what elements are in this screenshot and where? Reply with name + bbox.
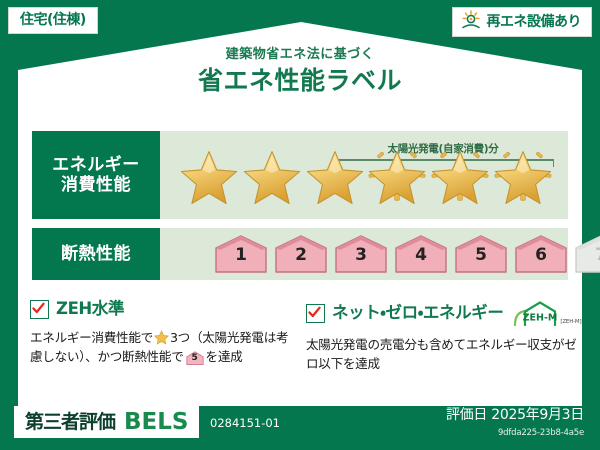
- inline-star-icon: [154, 330, 169, 345]
- net-zero-title: ネット・ゼロ・エネルギー: [332, 305, 503, 322]
- third-party-label: 第三者評価: [25, 413, 115, 432]
- bels-evaluation-badge: 第三者評価 BELS: [14, 406, 199, 438]
- zeh-desc-part1: エネルギー消費性能で: [30, 330, 153, 345]
- title-subtitle: 建築物省エネ法に基づく: [0, 48, 600, 61]
- zeh-desc-part3: を達成: [206, 349, 243, 364]
- svg-text:ZEH-M: ZEH-M: [523, 313, 558, 324]
- bels-logo-text: BELS: [124, 411, 188, 434]
- insulation-level-5: 5: [454, 234, 508, 274]
- zeh-description: エネルギー消費性能で 3つ（太陽光発電は考慮しない）、かつ断熱性能で 5 を達成: [30, 328, 292, 366]
- renewable-badge-label: 再エネ設備あり: [487, 15, 582, 29]
- insulation-level-7: 7: [574, 234, 600, 274]
- star-icon: [241, 138, 304, 212]
- zeh-m-logo-icon: ZEH-M [ZEH-M]: [511, 300, 565, 326]
- energy-performance-label: エネルギー 消費性能: [32, 131, 160, 219]
- insulation-level-6: 6: [514, 234, 568, 274]
- insulation-level-1: 1: [214, 234, 268, 274]
- insulation-levels-panel: 1 2 3 4 5 6 7: [160, 228, 568, 280]
- certificate-id: 0284151-01: [210, 418, 280, 430]
- zeh-checkbox[interactable]: [30, 300, 49, 319]
- record-uuid: 9dfda225-23b8-4a5e: [498, 429, 584, 438]
- inline-house-value: 5: [186, 354, 204, 363]
- zeh-title: ZEH水準: [56, 301, 124, 318]
- energy-label-root: 住宅(住棟) 再エネ設備あり 建築物省エネ法に基づく 省エネ性能ラベル: [0, 0, 600, 450]
- title-main: 省エネ性能ラベル: [0, 68, 600, 93]
- zeh-standard-section: ZEH水準 エネルギー消費性能で 3つ（太陽光発電は考慮しない）、かつ断熱性能で…: [30, 300, 292, 366]
- energy-performance-row: エネルギー 消費性能 太陽光発電(自家消費)分: [32, 131, 568, 219]
- net-zero-energy-section: ネット・ゼロ・エネルギー ZEH-M [ZEH-M] 太陽光発電の売電分も含めて…: [306, 300, 584, 373]
- evaluation-date: 評価日 2025年9月3日: [446, 408, 584, 422]
- star-icon: [303, 138, 366, 212]
- star-icon: [491, 138, 554, 212]
- energy-stars-panel: 太陽光発電(自家消費)分: [160, 131, 568, 219]
- insulation-performance-row: 断熱性能 1 2 3 4 5: [32, 228, 568, 280]
- insulation-level-2: 2: [274, 234, 328, 274]
- sun-solar-icon: [460, 10, 482, 34]
- insulation-performance-label: 断熱性能: [32, 228, 160, 280]
- evaluation-date-label: 評価日: [446, 407, 487, 423]
- zeh-header: ZEH水準: [30, 300, 292, 319]
- net-zero-description: 太陽光発電の売電分も含めてエネルギー収支がゼロ以下を達成: [306, 335, 584, 373]
- net-zero-header: ネット・ゼロ・エネルギー ZEH-M [ZEH-M]: [306, 300, 584, 326]
- energy-star-rating: [170, 131, 562, 219]
- evaluation-date-value: 2025年9月3日: [491, 407, 584, 423]
- zeh-m-logo-subtext: [ZEH-M]: [560, 319, 581, 325]
- label-title-block: 建築物省エネ法に基づく 省エネ性能ラベル: [0, 48, 600, 93]
- star-icon: [178, 138, 241, 212]
- insulation-level-scale: 1 2 3 4 5 6 7: [172, 228, 560, 280]
- insulation-level-3: 3: [334, 234, 388, 274]
- insulation-level-4: 4: [394, 234, 448, 274]
- building-type-tag: 住宅(住棟): [8, 7, 98, 34]
- renewable-equipment-badge: 再エネ設備あり: [452, 7, 593, 37]
- star-icon: [429, 138, 492, 212]
- net-zero-checkbox[interactable]: [306, 304, 325, 323]
- inline-house-icon: 5: [186, 351, 204, 366]
- star-icon: [366, 138, 429, 212]
